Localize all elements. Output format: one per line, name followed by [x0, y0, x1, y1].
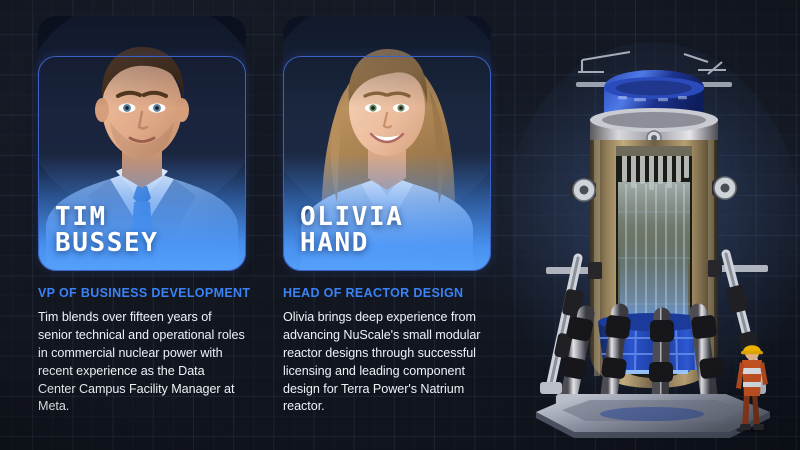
profile-name: TIM BUSSEY	[55, 204, 159, 257]
profile-card-tim[interactable]: TIM BUSSEY	[38, 56, 246, 271]
profile-card-olivia[interactable]: OLIVIA HAND	[283, 56, 491, 271]
profile-name: OLIVIA HAND	[300, 204, 404, 257]
profile-role-olivia: HEAD OF REACTOR DESIGN	[283, 286, 463, 300]
reactor-illustration	[512, 22, 800, 442]
profile-role-tim: VP OF BUSINESS DEVELOPMENT	[38, 286, 250, 300]
profile-last-name: BUSSEY	[55, 230, 159, 257]
slide-canvas: TIM BUSSEY VP OF BUSINESS DEVELOPMENT Ti…	[0, 0, 800, 450]
profile-bio-tim: Tim blends over fifteen years of senior …	[38, 309, 245, 416]
profile-last-name: HAND	[300, 230, 404, 257]
small-modular-reactor-render	[512, 22, 800, 442]
profile-bio-olivia: Olivia brings deep experience from advan…	[283, 309, 490, 416]
